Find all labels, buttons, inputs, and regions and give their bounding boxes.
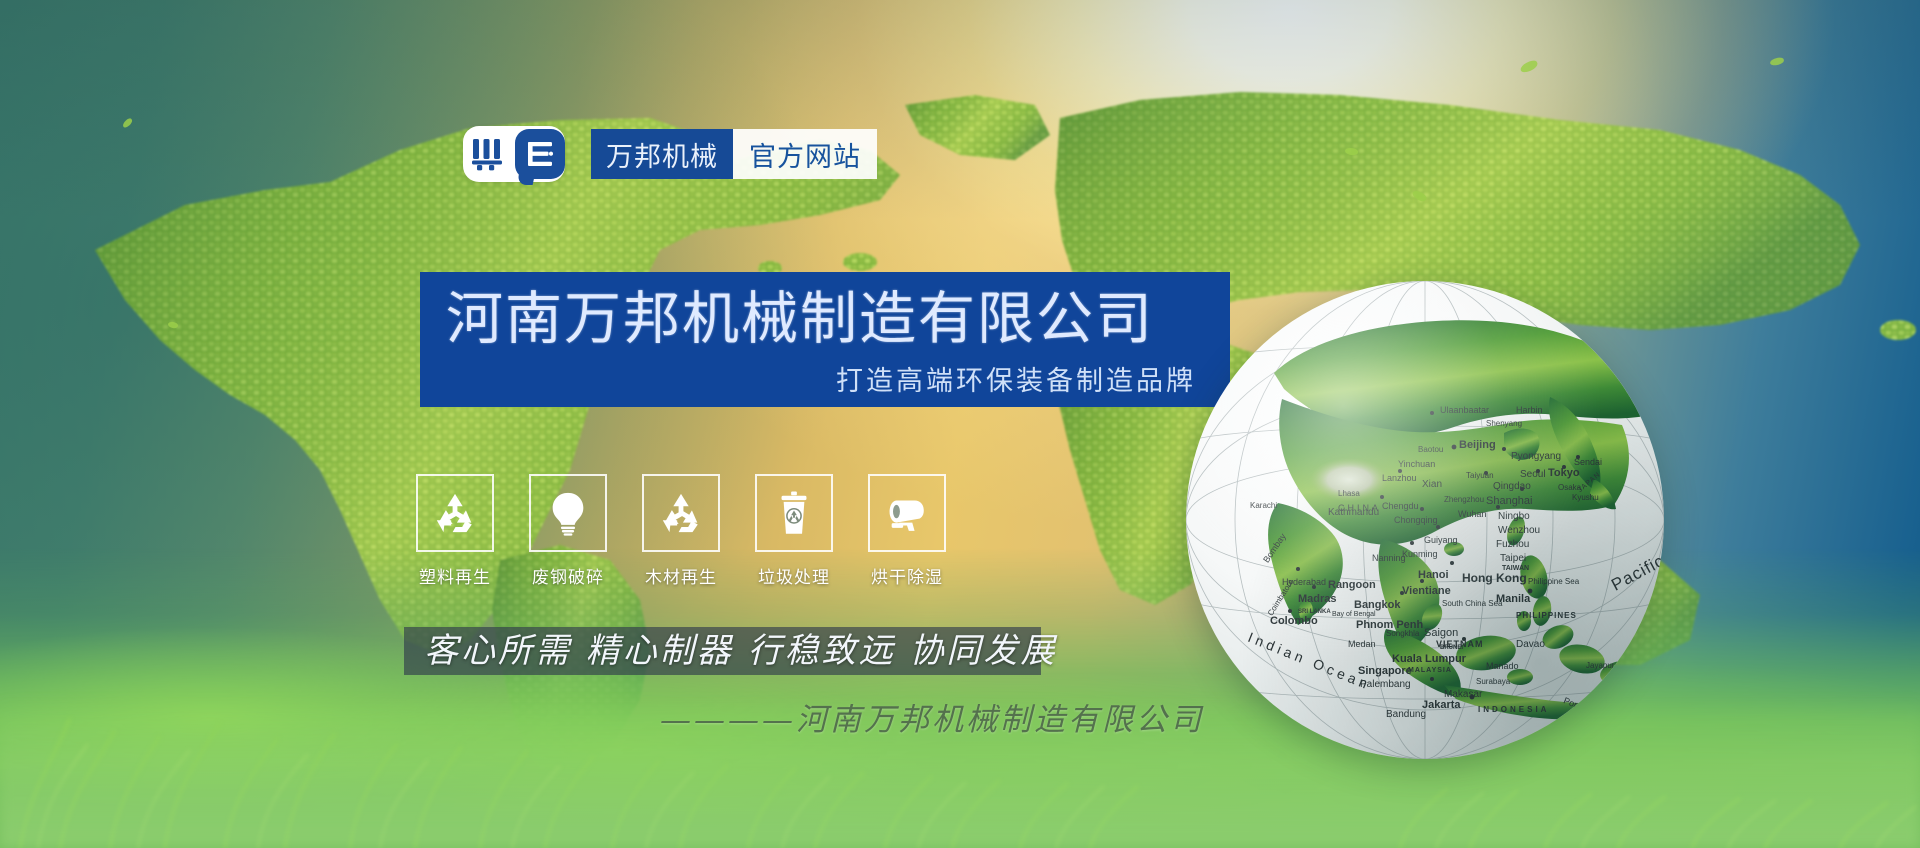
nameplate-official[interactable]: 官方网站 [733, 129, 877, 179]
slogan-attribution: ————河南万邦机械制造有限公司 [660, 694, 1204, 739]
feature-icon-frame [868, 474, 946, 552]
slogan-text: 客心所需 精心制器 行稳致远 协同发展 [424, 628, 1024, 674]
feature-item-drying-dehumidifying[interactable]: 烘干除湿 [868, 474, 946, 588]
feature-icon-row: 塑料再生 废钢破碎 [416, 474, 946, 588]
feature-icon-frame [529, 474, 607, 552]
globe-graphic: Ulaanbaatar Beijing Harbin Shenyang Pyon… [1186, 281, 1664, 759]
feature-label: 废钢破碎 [532, 563, 604, 588]
feature-item-scrap-steel-crushing[interactable]: 废钢破碎 [529, 474, 607, 588]
recycle-icon [658, 490, 704, 536]
lightbulb-icon [545, 490, 591, 536]
recycle-icon [432, 490, 478, 536]
hero-banner: 万邦机械 官方网站 河南万邦机械制造有限公司 打造高端环保装备制造品牌 塑料再生 [0, 0, 1920, 848]
nameplate-company[interactable]: 万邦机械 [591, 129, 733, 179]
letter-b-bubble-icon [515, 129, 565, 179]
brand-bar: 万邦机械 官方网站 [463, 126, 877, 182]
globe-sphere: Ulaanbaatar Beijing Harbin Shenyang Pyon… [1186, 281, 1664, 759]
feature-icon-frame [755, 474, 833, 552]
feature-item-plastic-recycling[interactable]: 塑料再生 [416, 474, 494, 588]
feature-icon-frame [642, 474, 720, 552]
page-subtitle: 打造高端环保装备制造品牌 [446, 359, 1196, 398]
feature-label: 烘干除湿 [871, 563, 943, 588]
feature-label: 木材再生 [645, 563, 717, 588]
feature-label: 垃圾处理 [758, 563, 830, 588]
feature-item-waste-treatment[interactable]: 垃圾处理 [755, 474, 833, 588]
trash-bin-icon [771, 490, 817, 536]
feature-icon-frame [416, 474, 494, 552]
hero-title-box: 河南万邦机械制造有限公司 打造高端环保装备制造品牌 [420, 272, 1230, 407]
company-logo[interactable] [463, 126, 565, 182]
feature-label: 塑料再生 [419, 563, 491, 588]
site-nameplate: 万邦机械 官方网站 [591, 129, 877, 179]
dryer-blower-icon [884, 490, 930, 536]
feature-item-wood-recycling[interactable]: 木材再生 [642, 474, 720, 588]
page-title: 河南万邦机械制造有限公司 [446, 286, 1196, 352]
letter-w-icon [472, 137, 508, 171]
